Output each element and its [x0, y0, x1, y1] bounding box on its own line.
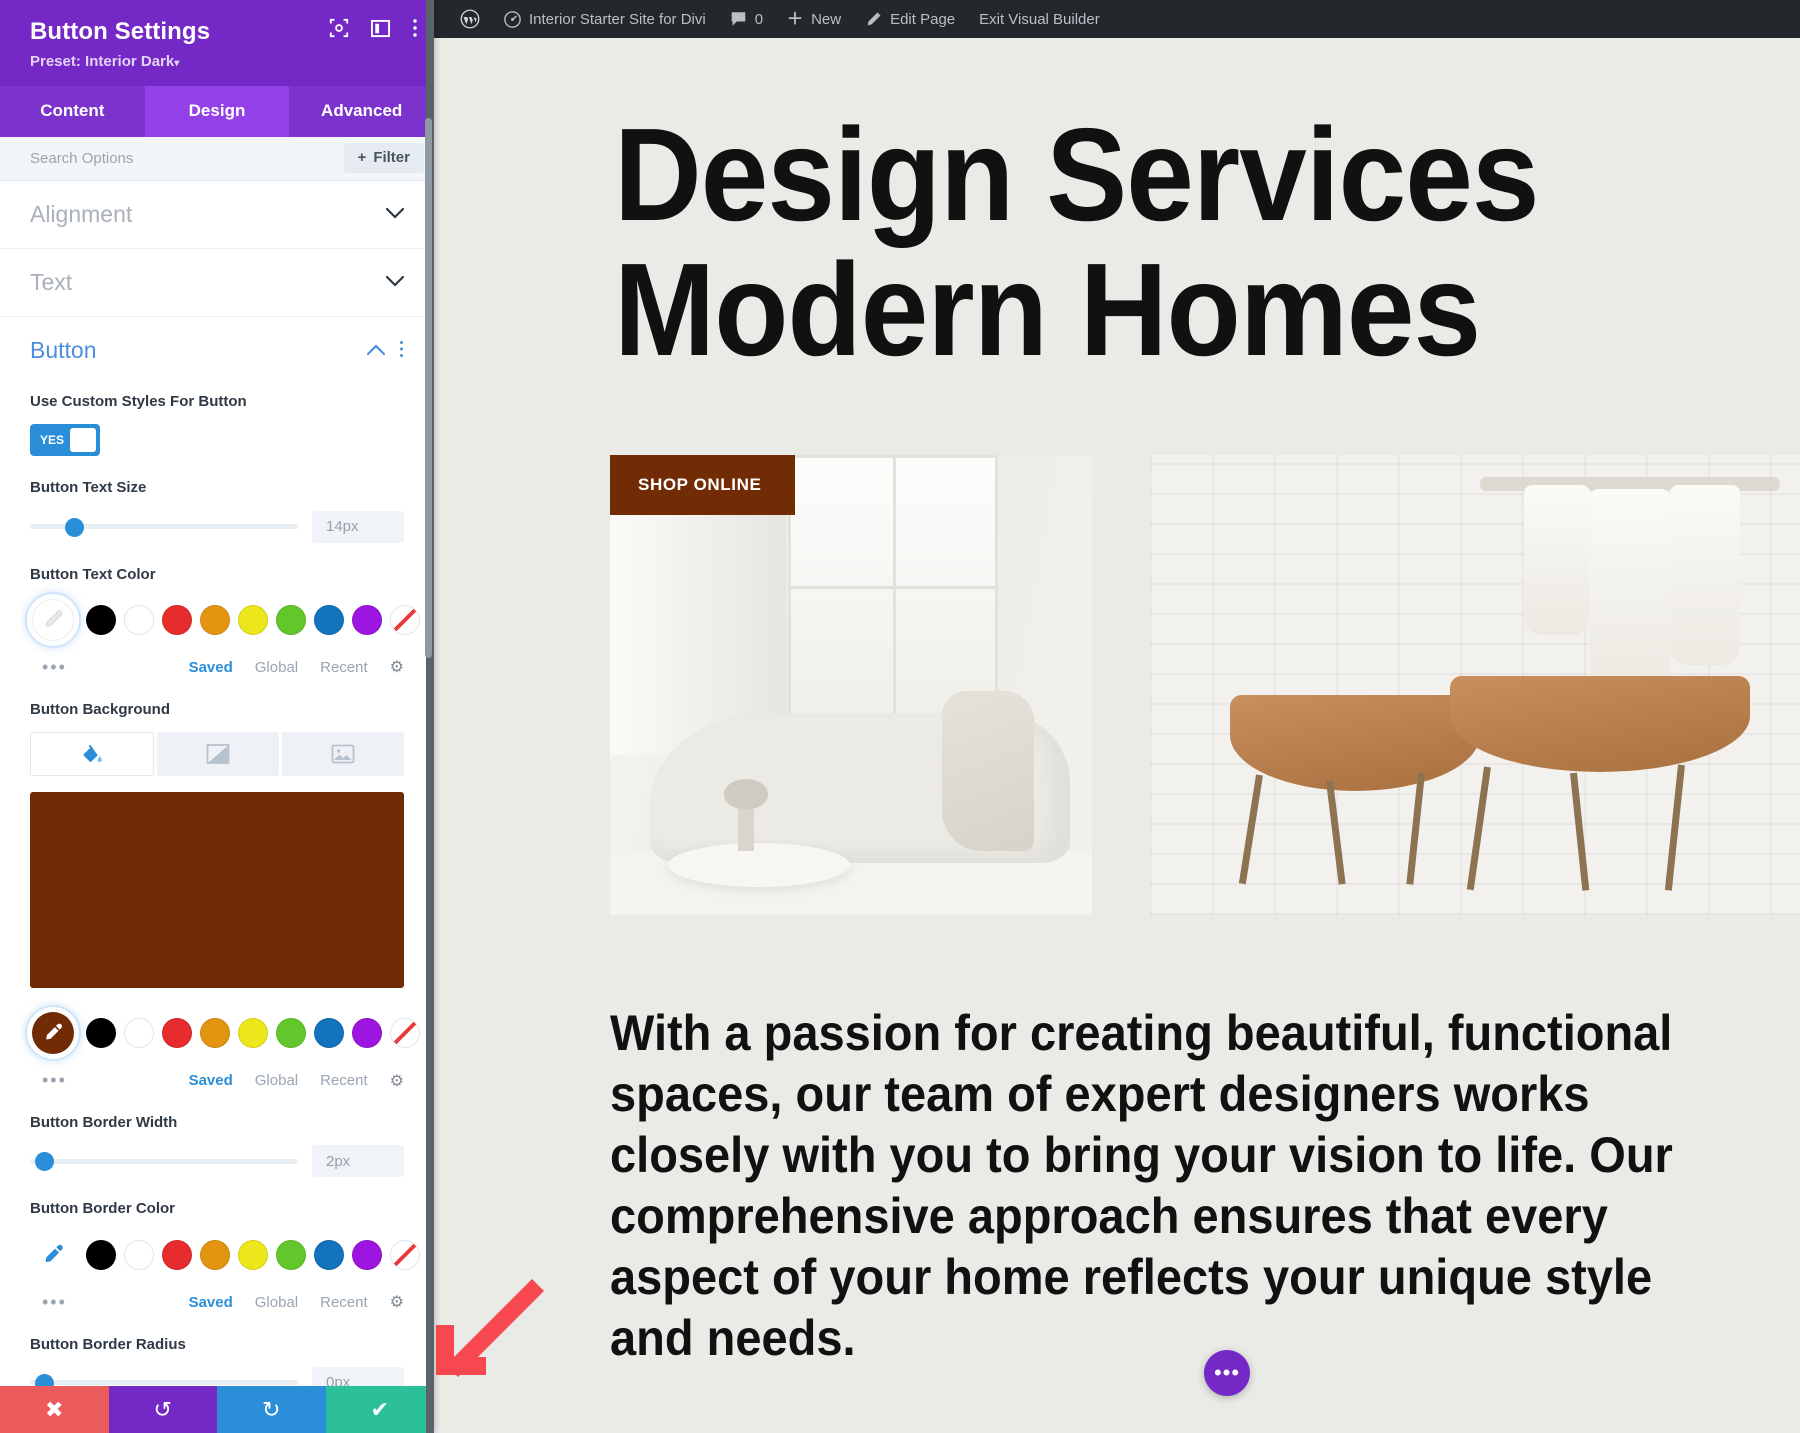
page-settings-fab[interactable]: •••: [1204, 1350, 1250, 1396]
background-color-eyedropper[interactable]: [30, 1010, 76, 1056]
image-gallery: SHOP ONLINE: [610, 455, 1800, 915]
button-background-color-preview[interactable]: [30, 792, 404, 988]
button-text-size-slider[interactable]: [30, 516, 298, 538]
gradient-icon: [206, 743, 230, 765]
palette-tab-saved[interactable]: Saved: [189, 1294, 233, 1311]
swatch-yellow[interactable]: [238, 1018, 268, 1048]
panel-preset[interactable]: Preset: Interior Dark▾: [30, 53, 412, 70]
swatch-red[interactable]: [162, 1018, 192, 1048]
panel-header-icons: [329, 18, 418, 38]
chevron-down-icon: [386, 274, 404, 291]
annotation-arrow-icon: [410, 1265, 550, 1400]
swatch-purple[interactable]: [352, 1240, 382, 1270]
button-border-width-label: Button Border Width: [30, 1113, 404, 1133]
body-paragraph: With a passion for creating beautiful, f…: [610, 1003, 1729, 1369]
swatch-none[interactable]: [390, 605, 420, 635]
redo-button[interactable]: ↻: [217, 1386, 326, 1433]
button-border-color-label: Button Border Color: [30, 1199, 404, 1219]
swatch-black[interactable]: [86, 1240, 116, 1270]
swatch-black[interactable]: [86, 605, 116, 635]
section-options-icon[interactable]: [399, 340, 404, 362]
swatch-orange[interactable]: [200, 1018, 230, 1048]
page-title: Design Services Modern Homes: [614, 108, 1705, 377]
swatch-white[interactable]: [124, 1018, 154, 1048]
swatch-black[interactable]: [86, 1018, 116, 1048]
layout-icon[interactable]: [371, 19, 390, 38]
filter-label: Filter: [373, 149, 410, 166]
swatch-purple[interactable]: [352, 1018, 382, 1048]
palette-tab-recent[interactable]: Recent: [320, 659, 368, 676]
heading-line-1: Design Services: [614, 101, 1539, 248]
background-image-tab[interactable]: [282, 732, 404, 776]
button-border-width-value[interactable]: 2px: [312, 1145, 404, 1177]
button-text-color-swatches: [30, 597, 404, 643]
plus-icon: [787, 11, 803, 27]
swatch-yellow[interactable]: [238, 605, 268, 635]
heading-line-2: Modern Homes: [614, 236, 1480, 383]
button-background-swatches: [30, 1010, 404, 1056]
comments-menu[interactable]: 0: [718, 0, 775, 38]
plus-icon: +: [358, 149, 367, 166]
background-solid-tab[interactable]: [30, 732, 154, 776]
panel-action-bar: ✖ ↺ ↻ ✔: [0, 1386, 434, 1433]
settings-scroll-area[interactable]: Alignment Text Button: [0, 181, 434, 1433]
exit-visual-builder-link[interactable]: Exit Visual Builder: [967, 0, 1112, 38]
section-text[interactable]: Text: [0, 249, 434, 317]
swatch-orange[interactable]: [200, 605, 230, 635]
button-text-size-control: 14px: [30, 511, 404, 543]
gallery-image-chairs: [1150, 455, 1800, 915]
more-options-icon[interactable]: [412, 18, 418, 38]
button-border-color-swatches: [30, 1232, 404, 1278]
swatch-green[interactable]: [276, 1018, 306, 1048]
search-options-bar: Search Options + Filter: [0, 137, 434, 181]
new-content-menu[interactable]: New: [775, 0, 853, 38]
swatch-green[interactable]: [276, 1240, 306, 1270]
swatch-white[interactable]: [124, 1240, 154, 1270]
more-swatches-icon[interactable]: •••: [42, 1070, 67, 1091]
border-color-palette-meta: ••• Saved Global Recent ⚙: [30, 1292, 404, 1313]
tab-content[interactable]: Content: [0, 86, 145, 137]
button-border-radius-label: Button Border Radius: [30, 1335, 404, 1355]
swatch-white[interactable]: [124, 605, 154, 635]
palette-tab-recent[interactable]: Recent: [320, 1294, 368, 1311]
swatch-blue[interactable]: [314, 1240, 344, 1270]
toggle-knob: [70, 428, 96, 452]
more-swatches-icon[interactable]: •••: [42, 1292, 67, 1313]
palette-tab-global[interactable]: Global: [255, 1294, 298, 1311]
chevron-down-icon: [386, 206, 404, 223]
palette-tab-global[interactable]: Global: [255, 659, 298, 676]
button-text-size-label: Button Text Size: [30, 478, 404, 498]
panel-preset-label: Preset: Interior Dark: [30, 53, 174, 70]
exit-visual-builder-label: Exit Visual Builder: [979, 11, 1100, 28]
shop-online-button[interactable]: SHOP ONLINE: [610, 455, 795, 515]
gear-icon[interactable]: ⚙: [390, 657, 404, 677]
button-section-body: Use Custom Styles For Button YES Button …: [0, 392, 434, 1419]
living-room-photo: [610, 455, 1092, 915]
edit-page-link[interactable]: Edit Page: [853, 0, 967, 38]
image-icon: [331, 744, 355, 764]
eyedropper-icon: [42, 609, 64, 631]
section-alignment-label: Alignment: [30, 201, 132, 228]
eyedropper-icon: [41, 1243, 65, 1267]
gallery-image-living-room: SHOP ONLINE: [610, 455, 1092, 915]
undo-button[interactable]: ↺: [109, 1386, 218, 1433]
button-border-width-slider[interactable]: [30, 1150, 298, 1172]
filter-button[interactable]: + Filter: [344, 143, 424, 173]
more-swatches-icon[interactable]: •••: [42, 657, 67, 678]
swatch-yellow[interactable]: [238, 1240, 268, 1270]
edit-page-label: Edit Page: [890, 11, 955, 28]
palette-tab-saved[interactable]: Saved: [189, 659, 233, 676]
section-button-label: Button: [30, 337, 97, 364]
section-text-label: Text: [30, 269, 72, 296]
site-name-menu[interactable]: Interior Starter Site for Divi: [492, 0, 718, 38]
palette-tab-global[interactable]: Global: [255, 1072, 298, 1089]
comment-bubble-icon: [730, 11, 747, 27]
pencil-icon: [865, 11, 882, 28]
background-type-tabs: [30, 732, 404, 776]
comment-count: 0: [755, 11, 763, 28]
focus-icon[interactable]: [329, 18, 349, 38]
gear-icon[interactable]: ⚙: [390, 1292, 404, 1312]
wordpress-logo-glyph: [460, 9, 480, 29]
panel-header: Button Settings Preset: Interior Dark▾: [0, 0, 434, 86]
swatch-blue[interactable]: [314, 605, 344, 635]
paint-bucket-icon: [80, 742, 104, 766]
chevron-down-icon: ▾: [174, 58, 179, 69]
new-label: New: [811, 11, 841, 28]
swatch-green[interactable]: [276, 605, 306, 635]
button-text-color-label: Button Text Color: [30, 565, 404, 585]
slider-thumb[interactable]: [35, 1152, 54, 1171]
swatch-red[interactable]: [162, 1240, 192, 1270]
text-color-palette-meta: ••• Saved Global Recent ⚙: [30, 657, 404, 678]
swatch-none[interactable]: [390, 1018, 420, 1048]
visual-builder-preview: Interior Starter Site for Divi 0 New: [434, 0, 1800, 1433]
text-color-eyedropper[interactable]: [30, 597, 76, 643]
slider-thumb[interactable]: [65, 518, 84, 537]
swatch-purple[interactable]: [352, 605, 382, 635]
panel-scrollbar[interactable]: [425, 118, 432, 658]
search-input[interactable]: Search Options: [30, 150, 133, 167]
wordpress-admin-bar: Interior Starter Site for Divi 0 New: [434, 0, 1800, 38]
site-name-label: Interior Starter Site for Divi: [529, 11, 706, 28]
button-border-width-control: 2px: [30, 1145, 404, 1177]
custom-styles-toggle[interactable]: YES: [30, 424, 100, 456]
toggle-value-label: YES: [34, 433, 70, 447]
panel-tabs: Content Design Advanced: [0, 86, 434, 137]
button-text-size-value[interactable]: 14px: [312, 511, 404, 543]
swatch-red[interactable]: [162, 605, 192, 635]
background-palette-meta: ••• Saved Global Recent ⚙: [30, 1070, 404, 1091]
border-color-eyedropper[interactable]: [30, 1232, 76, 1278]
section-button[interactable]: Button: [0, 317, 434, 370]
module-settings-panel: Button Settings Preset: Interior Dark▾: [0, 0, 434, 1433]
background-gradient-tab[interactable]: [157, 732, 279, 776]
tab-advanced[interactable]: Advanced: [289, 86, 434, 137]
screen-root: Interior Starter Site for Divi 0 New: [0, 0, 1800, 1433]
gear-icon[interactable]: ⚙: [390, 1071, 404, 1091]
section-alignment[interactable]: Alignment: [0, 181, 434, 249]
chairs-photo: [1150, 455, 1800, 915]
eyedropper-icon: [42, 1022, 64, 1044]
tab-design[interactable]: Design: [145, 86, 290, 137]
swatch-orange[interactable]: [200, 1240, 230, 1270]
custom-styles-label: Use Custom Styles For Button: [30, 392, 404, 412]
swatch-blue[interactable]: [314, 1018, 344, 1048]
cancel-button[interactable]: ✖: [0, 1386, 109, 1433]
palette-tab-recent[interactable]: Recent: [320, 1072, 368, 1089]
hero-section: Design Services Modern Homes: [434, 38, 1800, 377]
dashboard-icon: [504, 11, 521, 28]
wordpress-logo-icon[interactable]: [448, 0, 492, 38]
button-background-label: Button Background: [30, 700, 404, 720]
chevron-up-icon[interactable]: [367, 342, 385, 359]
palette-tab-saved[interactable]: Saved: [189, 1072, 233, 1089]
